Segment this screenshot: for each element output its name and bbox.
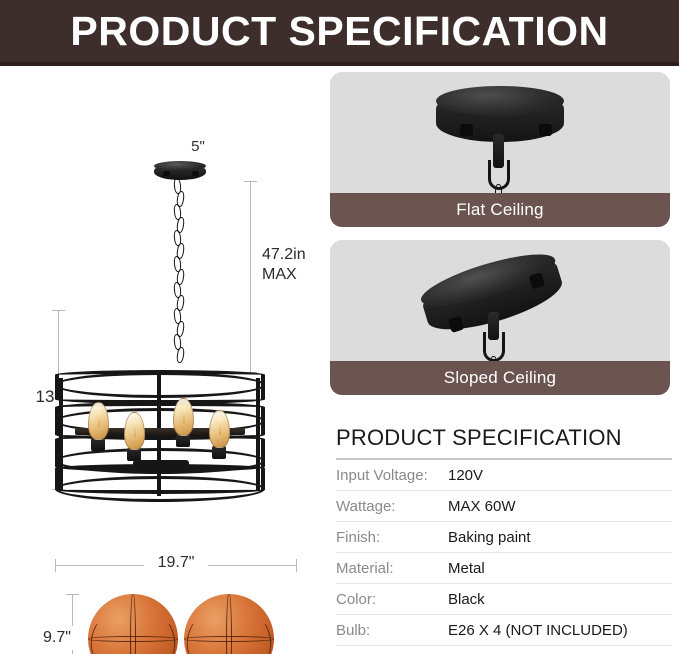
spec-row-value: MAX 60W — [448, 498, 516, 515]
product-specification-page: PRODUCT SPECIFICATION 5" 47.2in MAX — [0, 0, 679, 654]
spec-row-value: Metal — [448, 560, 485, 577]
basketball-left — [88, 594, 178, 654]
page-header: PRODUCT SPECIFICATION — [0, 0, 679, 62]
max-drop-line-2: MAX — [262, 265, 324, 285]
dimension-cap-top — [52, 310, 65, 311]
bulb-filament — [219, 419, 221, 435]
mount-caption-flat: Flat Ceiling — [456, 200, 543, 220]
canopy-screw-hole-right — [539, 124, 552, 136]
cage-vertical-bar-left — [59, 378, 63, 490]
fixture-arm-base — [133, 460, 189, 469]
max-drop-line-1: 47.2in — [262, 245, 324, 265]
spec-row: Finish:Baking paint — [336, 522, 672, 553]
spec-row: Material:Metal — [336, 553, 672, 584]
dimension-label-max-drop: 47.2in MAX — [262, 243, 324, 287]
bulb-filament — [183, 407, 185, 423]
dimension-line — [250, 181, 251, 373]
spec-row-value: E26 X 4 (NOT INCLUDED) — [448, 622, 628, 639]
dimension-label-canopy-width: 5" — [148, 138, 248, 155]
dimension-label-fixture-width: 19.7" — [52, 554, 300, 572]
bulb-filament — [98, 411, 100, 427]
chandelier-fixture — [55, 356, 265, 501]
edison-bulb-1 — [88, 402, 109, 440]
bulb-filament — [134, 421, 136, 437]
mount-caption-bar-sloped: Sloped Ceiling — [330, 361, 670, 395]
spec-row-label: Input Voltage: — [336, 467, 448, 484]
dimension-basketball-height: 9.7" — [38, 594, 84, 654]
canopy-screw-hole-left — [163, 171, 170, 176]
spec-row-label: Material: — [336, 560, 448, 577]
mount-caption-sloped: Sloped Ceiling — [444, 368, 556, 388]
ceiling-canopy-top — [154, 161, 206, 171]
dimension-max-drop: 47.2in MAX — [228, 181, 324, 373]
spec-row-value: 120V — [448, 467, 483, 484]
spec-row-label: Color: — [336, 591, 448, 608]
canopy-screw-hole-left — [460, 124, 473, 136]
dimension-fixture-width: 19.7" — [52, 554, 300, 576]
canopy-screw-hole-right — [192, 171, 199, 176]
mount-type-panels: Flat Ceiling Sloped Ceiling — [330, 72, 675, 408]
dimension-cap-top — [244, 181, 257, 182]
mount-card-flat-ceiling: Flat Ceiling — [330, 72, 670, 227]
dimension-canopy-width: 5" — [148, 140, 248, 160]
mount-card-sloped-ceiling: Sloped Ceiling — [330, 240, 670, 395]
product-dimension-diagram: 5" 47.2in MAX 13" — [0, 66, 320, 654]
spec-row: Wattage:MAX 60W — [336, 491, 672, 522]
basketball-right — [184, 594, 274, 654]
canopy-disc-top — [436, 86, 564, 116]
spec-row: Input Voltage:120V — [336, 460, 672, 491]
spec-row-label: Bulb: — [336, 622, 448, 639]
spec-row-label: Wattage: — [336, 498, 448, 515]
edison-bulb-2 — [124, 412, 145, 450]
dimension-label-basketball-height: 9.7" — [30, 626, 84, 650]
specification-table: PRODUCT SPECIFICATION Input Voltage:120V… — [336, 425, 672, 646]
spec-row-value: Black — [448, 591, 485, 608]
spec-row-value: Baking paint — [448, 529, 531, 546]
basketball-scale-reference — [88, 594, 276, 654]
spec-row: Color:Black — [336, 584, 672, 615]
spec-table-title: PRODUCT SPECIFICATION — [336, 425, 672, 458]
spec-rows-container: Input Voltage:120VWattage:MAX 60WFinish:… — [336, 460, 672, 646]
edison-bulb-4 — [209, 410, 230, 448]
cage-vertical-bar-right — [256, 378, 260, 490]
edison-bulb-3 — [173, 398, 194, 436]
spec-row-label: Finish: — [336, 529, 448, 546]
hanging-chain — [173, 178, 187, 363]
mount-caption-bar-flat: Flat Ceiling — [330, 193, 670, 227]
page-title: PRODUCT SPECIFICATION — [70, 11, 608, 52]
dimension-cap-top — [66, 594, 79, 595]
spec-row: Bulb:E26 X 4 (NOT INCLUDED) — [336, 615, 672, 646]
